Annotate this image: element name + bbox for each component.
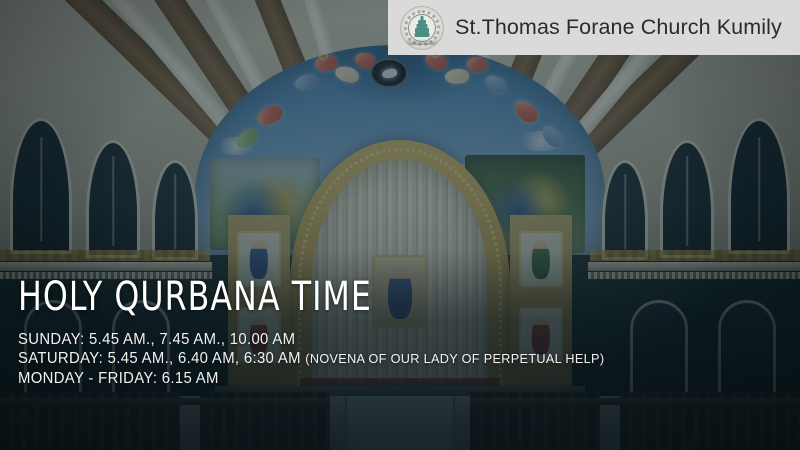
schedule-line-saturday: SATURDAY: 5.45 AM., 6.40 AM, 6:30 AM (NO…	[18, 349, 604, 368]
church-name-label: St.Thomas Forane Church Kumily	[455, 15, 782, 40]
church-tower-glyph	[415, 16, 430, 37]
schedule-line-sunday: SUNDAY: 5.45 AM., 7.45 AM., 10.00 AM	[18, 330, 604, 349]
church-name-banner: St.Thomas Forane Church Kumily	[388, 0, 800, 55]
mass-schedule-list: SUNDAY: 5.45 AM., 7.45 AM., 10.00 AM SAT…	[18, 330, 629, 388]
seal-text-arc	[401, 39, 443, 45]
page-title: HOLY QURBANA TIME	[18, 276, 372, 318]
schedule-saturday-times: SATURDAY: 5.45 AM., 6.40 AM, 6:30 AM	[18, 350, 305, 367]
poster-canvas: St.Thomas Forane Church Kumily HOLY QURB…	[0, 0, 800, 450]
schedule-saturday-note: (NOVENA OF OUR LADY OF PERPETUAL HELP)	[305, 351, 604, 366]
church-seal-icon	[400, 6, 444, 50]
schedule-line-weekday: MONDAY - FRIDAY: 6.15 AM	[18, 369, 604, 388]
